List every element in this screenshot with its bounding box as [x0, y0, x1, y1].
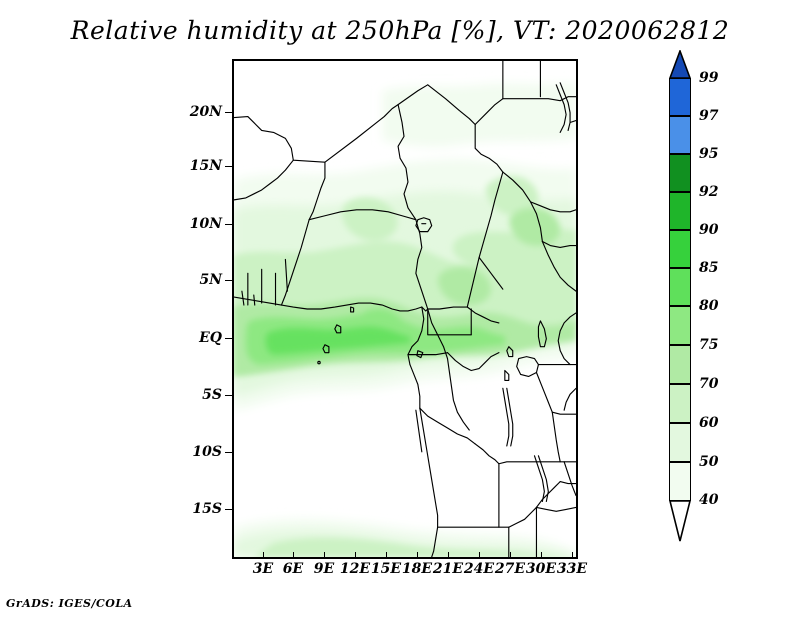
y-tick-5N — [225, 280, 232, 281]
x-tick-33E — [572, 552, 573, 559]
colorbar-band-75-80 — [669, 306, 691, 345]
grads-credit: GrADS: IGES/COLA — [6, 597, 133, 610]
colorbar-band-90-92 — [669, 192, 691, 230]
colorbar-label-50: 50 — [699, 454, 718, 470]
colorbar-label-97: 97 — [699, 108, 718, 124]
x-label-24E: 24E — [464, 561, 494, 577]
x-tick-3E — [263, 552, 264, 559]
colorbar-max-arrow-icon — [669, 50, 691, 79]
colorbar-label-75: 75 — [699, 337, 718, 353]
x-label-18E: 18E — [402, 561, 432, 577]
x-label-15E: 15E — [371, 561, 401, 577]
y-label-5S: 5S — [178, 387, 222, 403]
y-label-EQ: EQ — [178, 330, 222, 346]
x-label-6E: 6E — [283, 561, 303, 577]
x-tick-30E — [541, 552, 542, 559]
colorbar-band-92-95 — [669, 154, 691, 192]
country-borders-layer — [234, 61, 576, 557]
y-tick-10S — [225, 452, 232, 453]
y-tick-20N — [225, 112, 232, 113]
x-tick-9E — [324, 552, 325, 559]
y-tick-15N — [225, 166, 232, 167]
x-tick-27E — [510, 552, 511, 559]
x-tick-15E — [386, 552, 387, 559]
colorbar-label-60: 60 — [699, 415, 718, 431]
y-label-15S: 15S — [178, 501, 222, 517]
colorbar-band-60-70 — [669, 384, 691, 423]
y-tick-10N — [225, 224, 232, 225]
colorbar-band-70-75 — [669, 345, 691, 384]
x-label-12E: 12E — [340, 561, 370, 577]
y-label-10S: 10S — [178, 444, 222, 460]
colorbar-label-85: 85 — [699, 260, 718, 276]
y-tick-5S — [225, 395, 232, 396]
colorbar-band-97-99 — [669, 78, 691, 116]
x-label-33E: 33E — [557, 561, 587, 577]
y-tick-EQ — [225, 338, 232, 339]
x-tick-24E — [479, 552, 480, 559]
map-plot-area — [232, 59, 578, 559]
y-label-5N: 5N — [178, 272, 222, 288]
x-label-21E: 21E — [433, 561, 463, 577]
y-label-20N: 20N — [178, 104, 222, 120]
colorbar-label-80: 80 — [699, 298, 718, 314]
colorbar-band-95-97 — [669, 116, 691, 154]
y-tick-15S — [225, 509, 232, 510]
colorbar-band-85-90 — [669, 230, 691, 268]
colorbar-min-arrow-icon — [669, 500, 691, 542]
page-title: Relative humidity at 250hPa [%], VT: 202… — [0, 16, 800, 45]
x-label-30E: 30E — [526, 561, 556, 577]
colorbar-band-80-85 — [669, 268, 691, 306]
y-label-15N: 15N — [178, 158, 222, 174]
x-tick-18E — [417, 552, 418, 559]
colorbar-band-50-60 — [669, 423, 691, 462]
colorbar-label-95: 95 — [699, 146, 718, 162]
x-label-3E: 3E — [253, 561, 273, 577]
colorbar-band-40-50 — [669, 462, 691, 501]
x-label-27E: 27E — [495, 561, 525, 577]
y-label-10N: 10N — [178, 216, 222, 232]
x-tick-6E — [293, 552, 294, 559]
x-tick-12E — [355, 552, 356, 559]
x-tick-21E — [448, 552, 449, 559]
colorbar-label-90: 90 — [699, 222, 718, 238]
colorbar[interactable]: 99 97 95 92 90 85 80 75 70 60 50 40 — [669, 78, 691, 540]
x-label-9E: 9E — [314, 561, 334, 577]
colorbar-label-92: 92 — [699, 184, 718, 200]
colorbar-label-40: 40 — [699, 492, 718, 508]
colorbar-label-99: 99 — [699, 70, 718, 86]
colorbar-label-70: 70 — [699, 376, 718, 392]
